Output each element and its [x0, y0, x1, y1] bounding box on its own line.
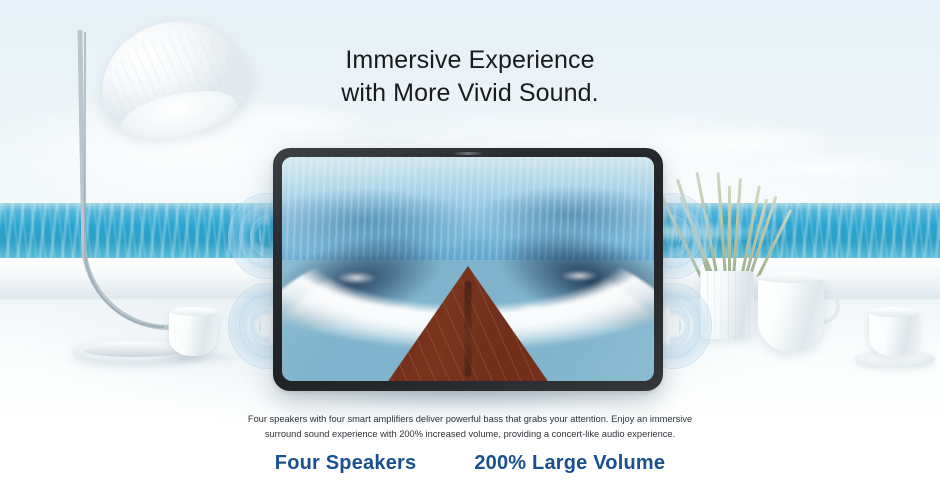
description-line-1: Four speakers with four smart amplifiers…	[0, 412, 940, 427]
promo-scene: Immersive Experience with More Vivid Sou…	[0, 0, 940, 504]
tablet-screen[interactable]	[282, 157, 654, 381]
cup-left-rim	[169, 307, 217, 316]
pitcher	[758, 275, 824, 351]
cup-left	[169, 309, 217, 356]
page-title: Immersive Experience with More Vivid Sou…	[0, 44, 940, 110]
plant-pot	[700, 271, 754, 339]
description-text: Four speakers with four smart amplifiers…	[0, 412, 940, 442]
pitcher-rim	[757, 272, 825, 283]
feature-labels: Four Speakers 200% Large Volume	[0, 452, 940, 475]
feature-four-speakers: Four Speakers	[275, 452, 417, 475]
cup-right-rim	[868, 307, 920, 317]
headline-line-2: with More Vivid Sound.	[0, 77, 940, 110]
headline-line-1: Immersive Experience	[0, 44, 940, 77]
plant-leaves	[690, 170, 768, 278]
plant-stalk	[717, 172, 727, 278]
front-camera-icon	[453, 152, 483, 155]
feature-large-volume: 200% Large Volume	[474, 452, 665, 475]
plant-stalk	[728, 186, 731, 278]
wallpaper-hull-seam	[465, 281, 472, 377]
description-line-2: surround sound experience with 200% incr…	[0, 427, 940, 442]
tablet-device[interactable]	[273, 148, 663, 391]
plant-stalk	[732, 178, 742, 278]
